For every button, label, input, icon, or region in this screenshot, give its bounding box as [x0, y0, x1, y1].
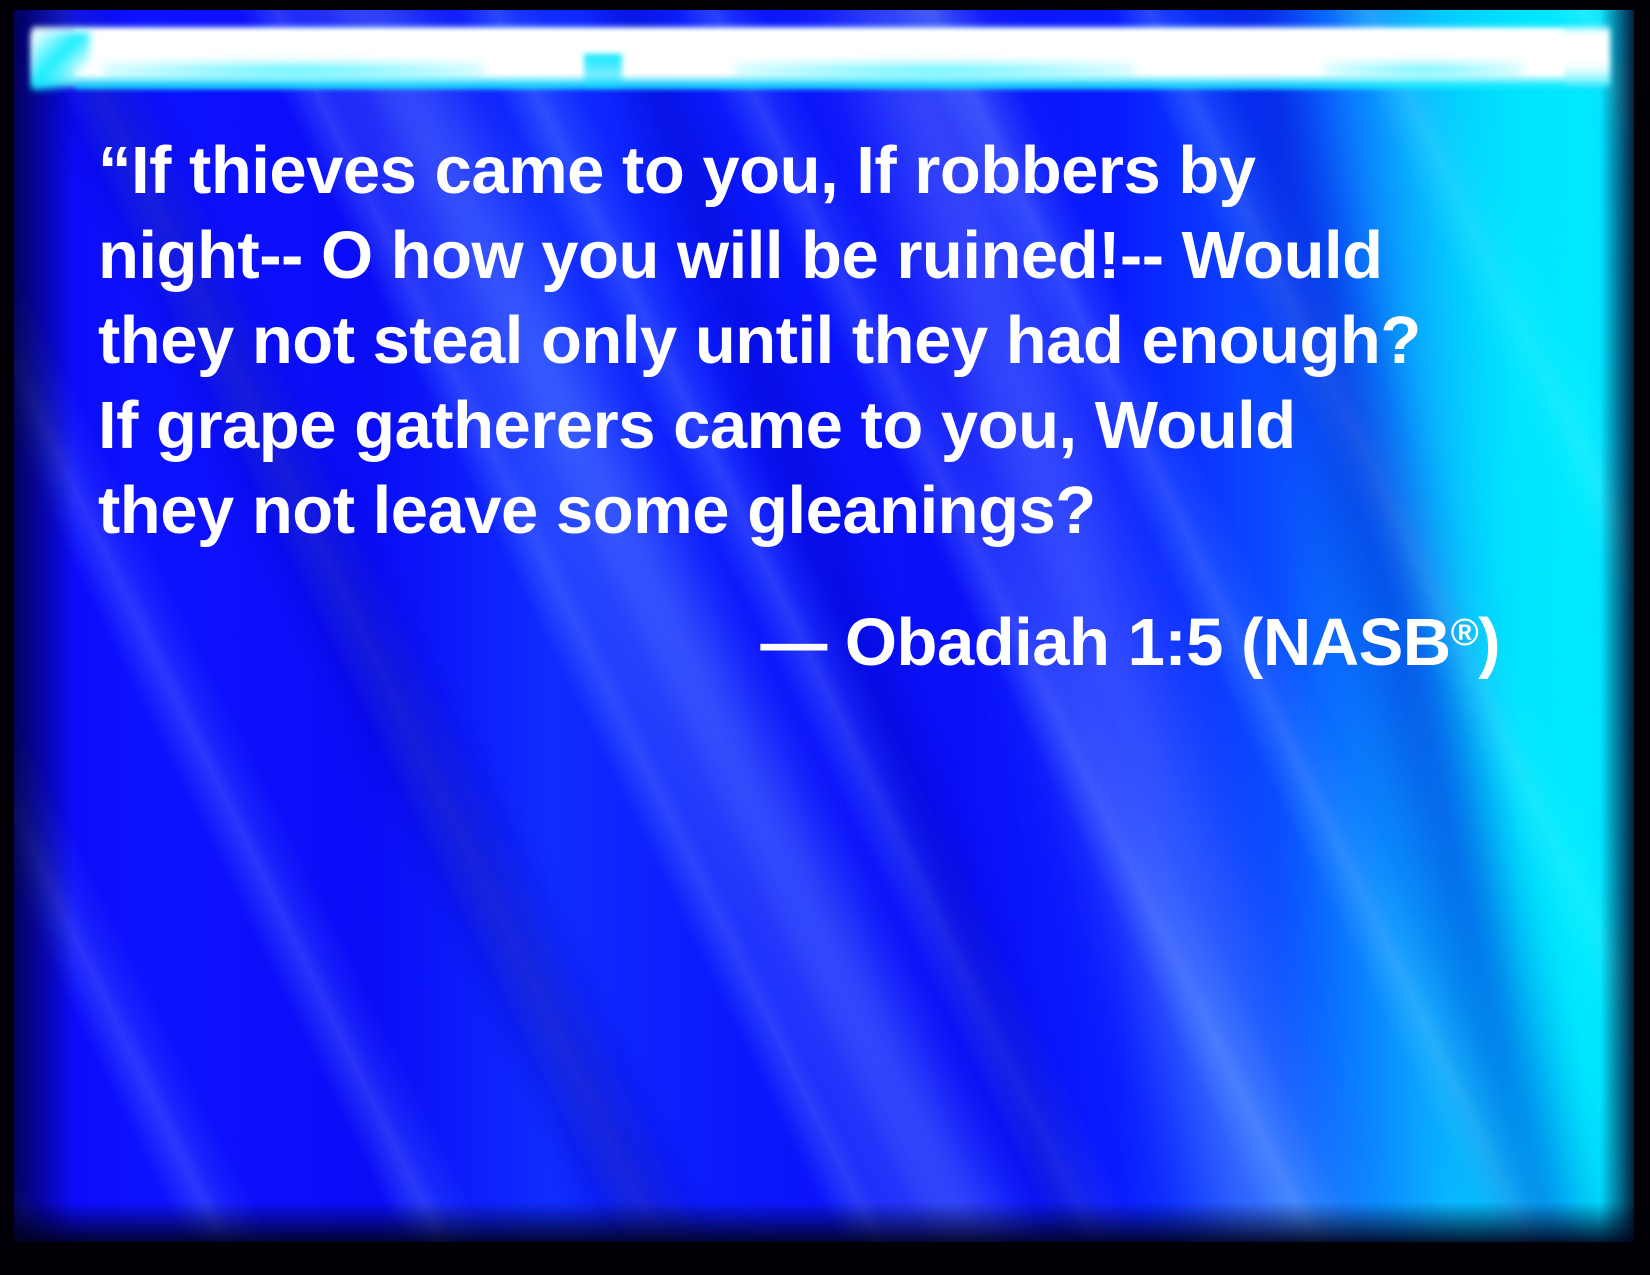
header-left-bevel — [32, 32, 90, 90]
header-cyan-wash-left — [104, 62, 484, 80]
background-edge-shade-left — [14, 10, 74, 1242]
background-edge-shade-bottom — [14, 1202, 1634, 1242]
verse-text-block: “If thieves came to you, If robbers by n… — [98, 128, 1518, 685]
attribution-suffix: ) — [1478, 605, 1500, 680]
verse-line-1: “If thieves came to you, If robbers by — [98, 128, 1518, 213]
header-cyan-wash-center — [734, 62, 1134, 80]
attribution-prefix: — Obadiah 1:5 (NASB — [760, 605, 1450, 680]
verse-attribution: — Obadiah 1:5 (NASB®) — [98, 553, 1518, 685]
background-edge-shade-right — [1600, 10, 1634, 1242]
registered-trademark-icon: ® — [1451, 612, 1479, 654]
header-cyan-wash-right — [1324, 62, 1524, 78]
verse-line-3: they not steal only until they had enoug… — [98, 298, 1518, 383]
verse-line-4: If grape gatherers came to you, Would — [98, 383, 1518, 468]
slide-surface: “If thieves came to you, If robbers by n… — [14, 10, 1634, 1242]
header-bottom-edge-glow — [76, 84, 1566, 91]
header-cyan-notch — [584, 54, 622, 86]
verse-line-2: night-- O how you will be ruined!-- Woul… — [98, 213, 1518, 298]
slide-frame: “If thieves came to you, If robbers by n… — [0, 0, 1650, 1275]
verse-line-5: they not leave some gleanings? — [98, 468, 1518, 553]
